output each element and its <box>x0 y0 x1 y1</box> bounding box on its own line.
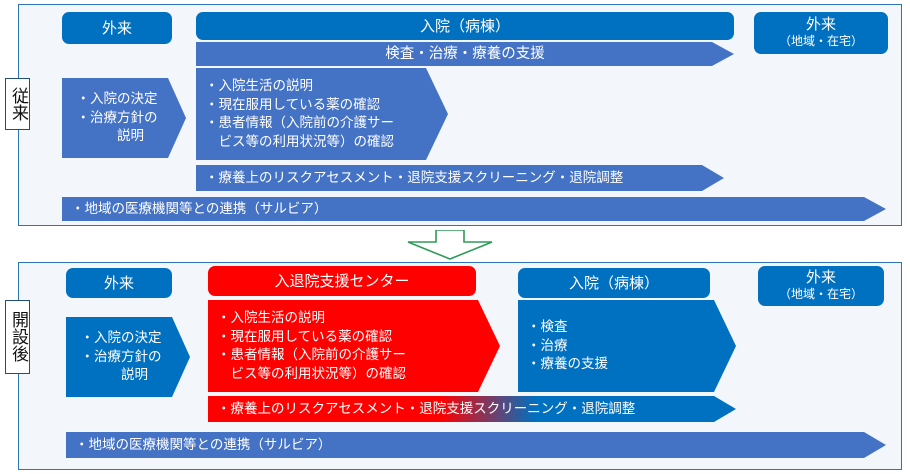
bar-regional-before: ・地域の医療機関等との連携（サルビア） <box>62 197 886 221</box>
list-item: ・現在服用している薬の確認 <box>205 96 394 115</box>
era-label-before: 従来 <box>5 78 30 130</box>
header-support-center-after: 入退院支援センター <box>208 266 476 296</box>
header-inpatient-before: 入院（病棟） <box>196 12 734 40</box>
list-item: ビス等の利用状況等）の確認 <box>205 133 394 152</box>
block-ward-tasks-after: ・検査 ・治療 ・療養の支援 <box>518 300 736 392</box>
header-outpatient-return-before: 外来 （地域・在宅） <box>754 12 888 54</box>
list-item: 説明 <box>62 127 172 146</box>
list-item: ・患者情報（入院前の介護サー <box>205 114 394 133</box>
bar-risk-before: ・療養上のリスクアセスメント・退院支援スクリーニング・退院調整 <box>196 165 724 191</box>
list-item: ・治療 <box>527 337 608 356</box>
connector-down-arrow-icon <box>392 230 508 260</box>
list-item: ビス等の利用状況等）の確認 <box>217 365 406 384</box>
header-outpatient-return-label-before: 外来 <box>806 17 836 32</box>
list-item: ・検査 <box>527 318 608 337</box>
header-outpatient-after: 外来 <box>66 268 172 298</box>
list-item: ・患者情報（入院前の介護サー <box>217 346 406 365</box>
bar-support-before: 検査・治療・療養の支援 <box>196 42 734 66</box>
block-outpatient-tasks-after: ・入院の決定 ・治療方針の 説明 <box>66 317 190 397</box>
list-item: ・入院の決定 <box>62 90 172 109</box>
era-label-after: 開設後 <box>5 300 30 374</box>
list-item: ・治療方針の <box>62 109 172 128</box>
header-outpatient-return-sub-after: （地域・在宅） <box>779 287 863 302</box>
list-item: ・現在服用している薬の確認 <box>217 328 406 347</box>
header-inpatient-after: 入院（病棟） <box>518 268 710 298</box>
header-outpatient-before: 外来 <box>62 12 172 44</box>
block-ward-tasks-before: ・入院生活の説明 ・現在服用している薬の確認 ・患者情報（入院前の介護サー ビス… <box>196 68 448 160</box>
list-item: ・入院生活の説明 <box>205 77 394 96</box>
block-outpatient-tasks-before: ・入院の決定 ・治療方針の 説明 <box>62 78 186 158</box>
header-outpatient-return-label-after: 外来 <box>806 270 836 285</box>
bar-risk-after: ・療養上のリスクアセスメント・退院支援スクリーニング・退院調整 <box>208 396 736 422</box>
header-outpatient-return-after: 外来 （地域・在宅） <box>758 266 884 306</box>
list-item: ・入院生活の説明 <box>217 309 406 328</box>
bar-regional-after: ・地域の医療機関等との連携（サルビア） <box>66 432 886 458</box>
list-item: ・療養の支援 <box>527 355 608 374</box>
block-center-tasks-after: ・入院生活の説明 ・現在服用している薬の確認 ・患者情報（入院前の介護サー ビス… <box>208 300 500 392</box>
header-outpatient-return-sub-before: （地域・在宅） <box>779 34 863 49</box>
list-item: 説明 <box>66 366 176 385</box>
list-item: ・治療方針の <box>66 348 176 367</box>
list-item: ・入院の決定 <box>66 329 176 348</box>
